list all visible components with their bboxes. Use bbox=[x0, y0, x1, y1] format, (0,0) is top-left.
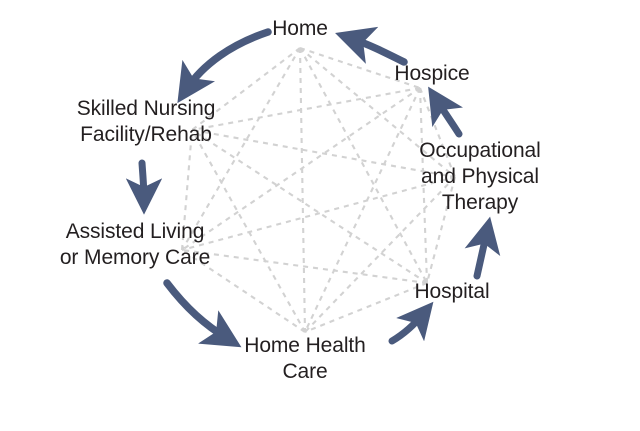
cycle-arrow-home-to-snf bbox=[186, 32, 268, 90]
cycle-arrow-hospital-to-otpt bbox=[477, 231, 487, 276]
node-label-ot-pt: Occupational and Physical Therapy bbox=[419, 138, 540, 216]
node-label-skilled-nursing: Skilled Nursing Facility/Rehab bbox=[77, 96, 216, 148]
cycle-arrow-otpt-to-hospice bbox=[436, 99, 459, 134]
node-label-hospital: Hospital bbox=[414, 279, 489, 305]
node-label-home-health-care: Home Health Care bbox=[244, 333, 365, 385]
care-transitions-diagram: Home Hospice Occupational and Physical T… bbox=[0, 0, 640, 431]
dashed-link-ot-pt-snf bbox=[192, 130, 455, 177]
cycle-arrow-hospice-to-home bbox=[350, 38, 404, 62]
cycle-arrow-snf-to-alf bbox=[142, 163, 144, 200]
dashed-link-hospice-hhc bbox=[305, 88, 420, 332]
node-label-hospice: Hospice bbox=[394, 61, 469, 87]
cycle-arrow-alf-to-hhc bbox=[167, 283, 228, 339]
dashed-link-hospital-snf bbox=[192, 130, 427, 283]
dashed-link-home-hhc bbox=[300, 48, 305, 332]
dashed-link-hospice-snf bbox=[192, 88, 420, 130]
node-label-assisted-living: Assisted Living or Memory Care bbox=[60, 219, 210, 271]
dashed-link-ot-pt-alf bbox=[182, 177, 455, 250]
node-label-home: Home bbox=[272, 16, 328, 42]
cycle-arrow-hhc-to-hospital bbox=[392, 313, 424, 341]
